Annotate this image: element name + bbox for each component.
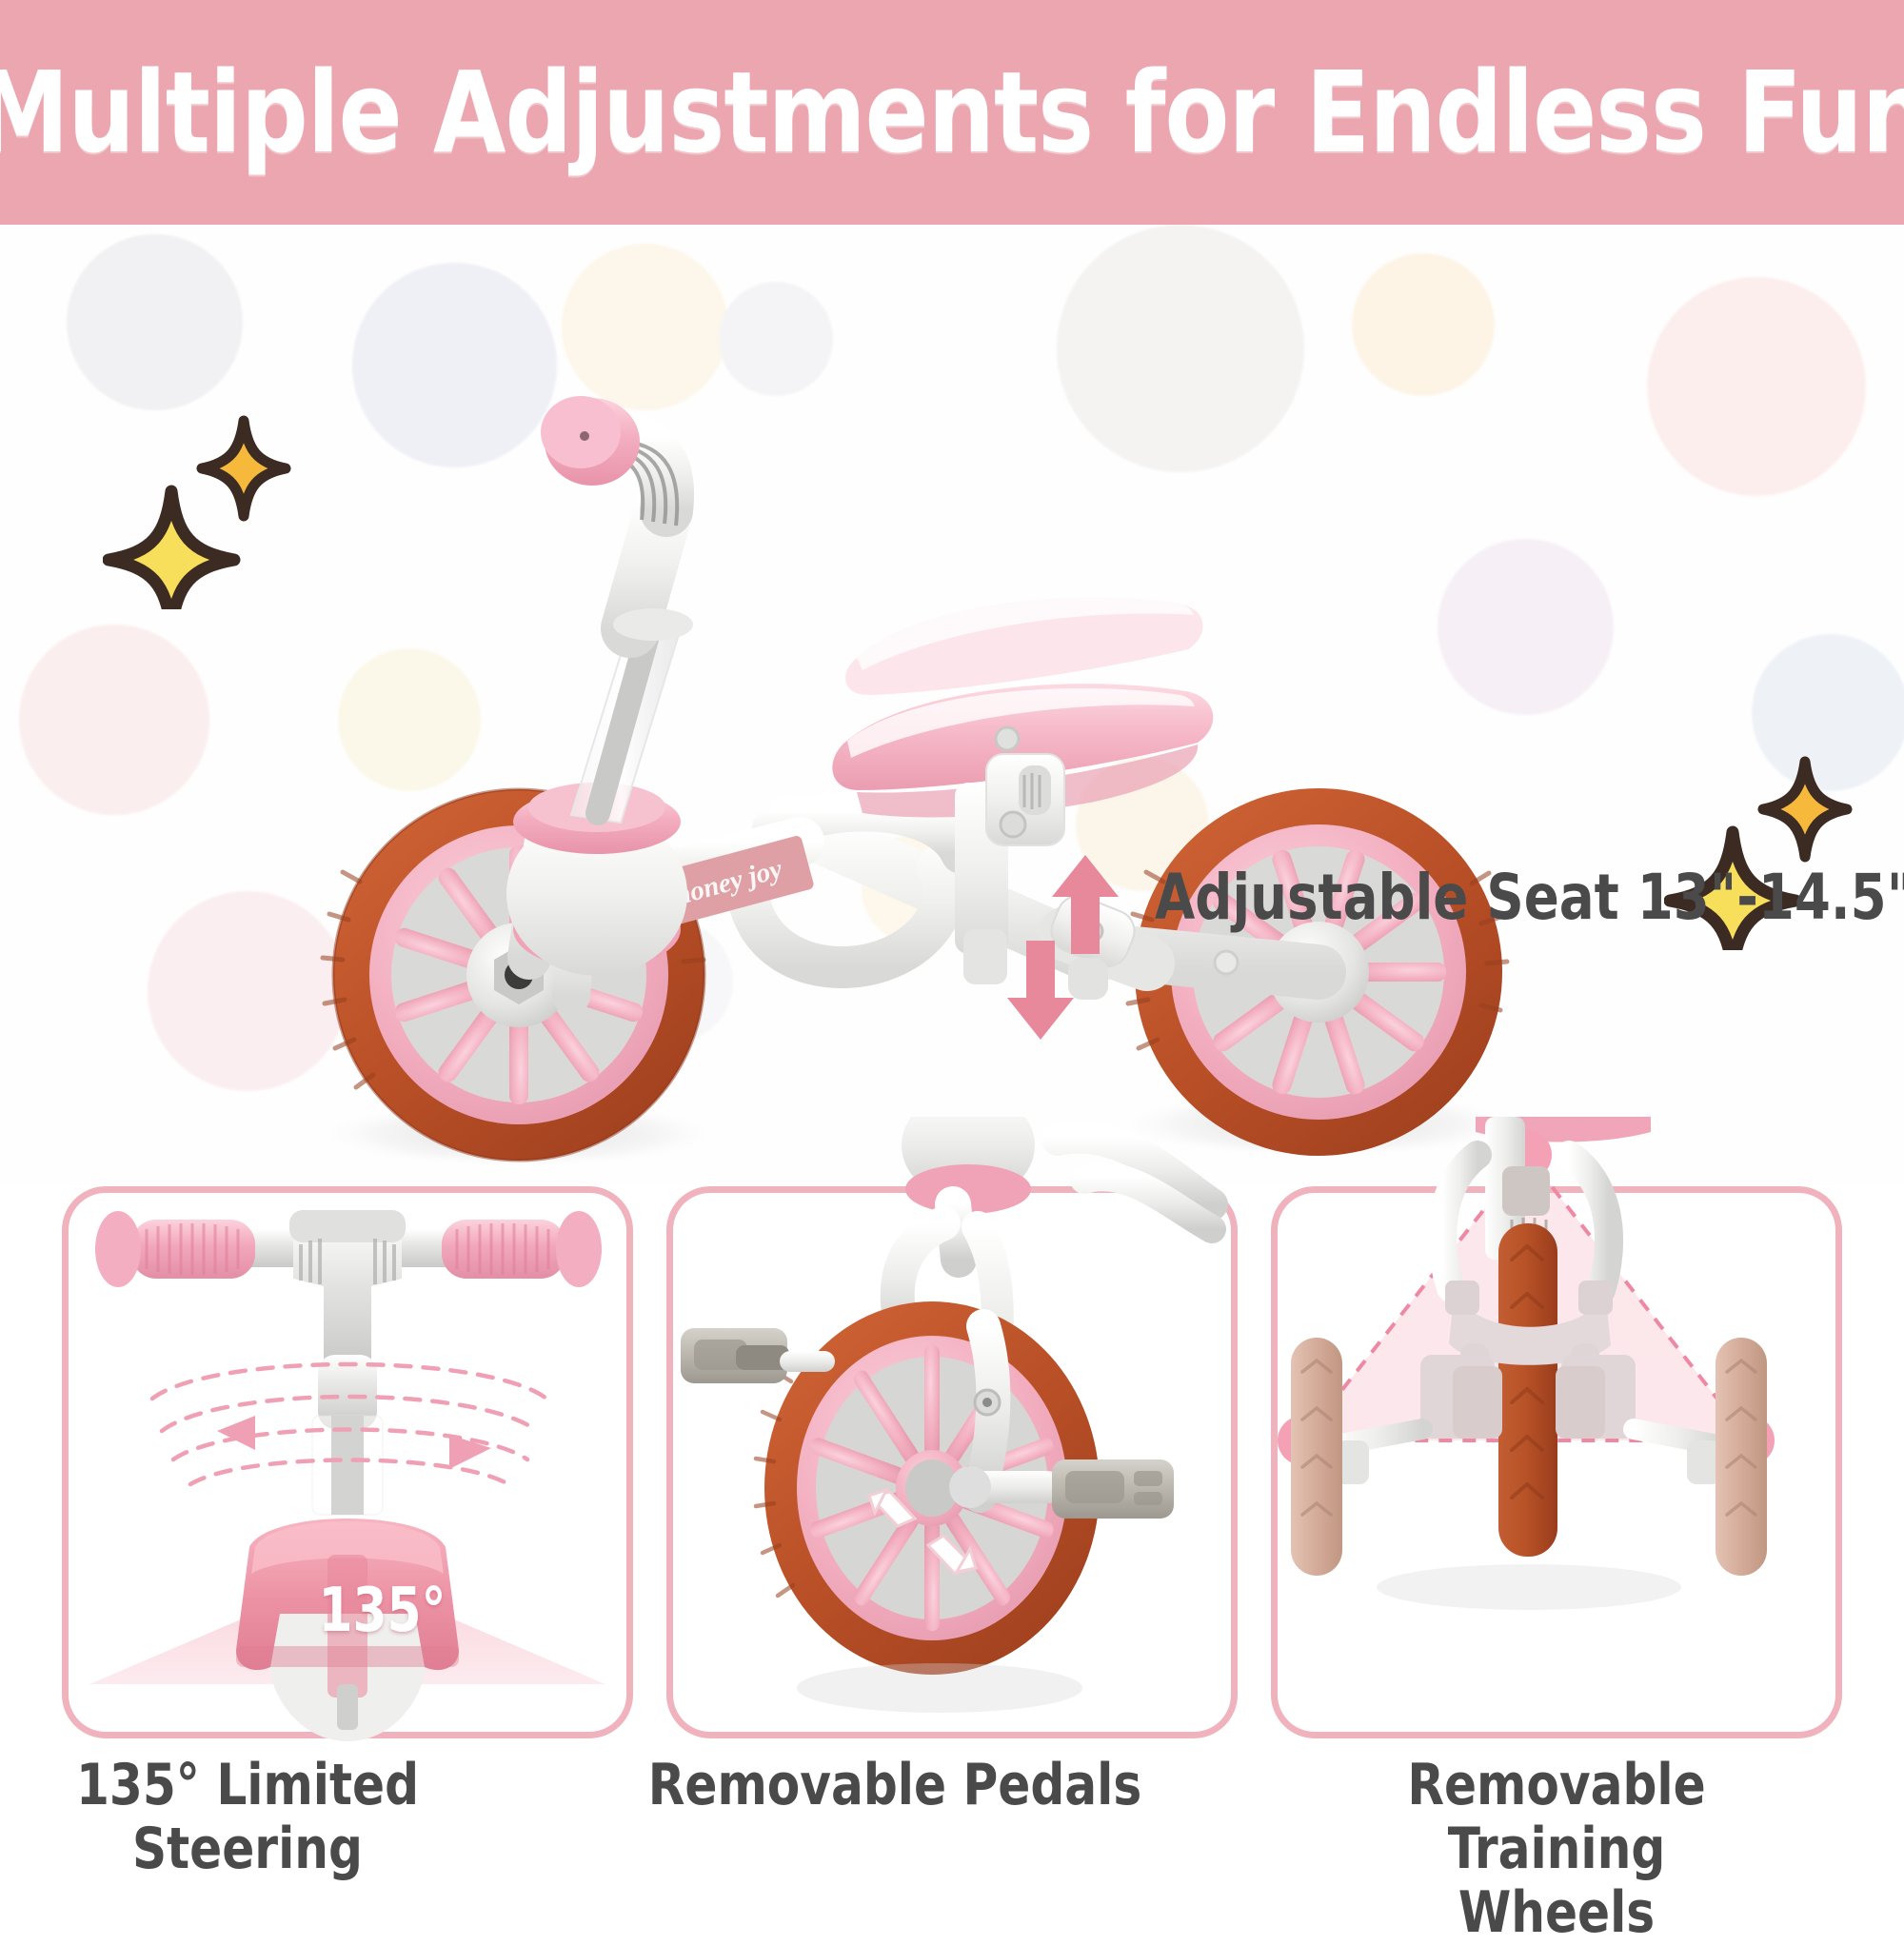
hero-caption: Adjustable Seat 13"-14.5" [1155, 861, 1904, 934]
caption-removable-training-wheels: Removable Training Wheels [1291, 1754, 1822, 1946]
training-wheel-right [1716, 1338, 1767, 1576]
panel-removable-training-wheels[interactable] [1271, 1186, 1842, 1738]
header-banner: Multiple Adjustments for Endless Fun [0, 0, 1904, 225]
head-tube-assembly [506, 396, 693, 996]
panel-training-artwork [1278, 1117, 1835, 1745]
rear-view-wheel [1498, 1223, 1557, 1557]
hero-product-stage: honey joy [0, 225, 1904, 1186]
panel-limited-steering[interactable]: 135° [62, 1186, 633, 1738]
panel-steering-artwork [69, 1117, 626, 1745]
caption-removable-pedals: Removable Pedals [629, 1754, 1160, 1817]
panel-removable-pedals[interactable] [666, 1186, 1238, 1738]
caption-line-2: Wheels [1291, 1881, 1822, 1945]
handlebar-grip-left [95, 1211, 255, 1287]
feature-panels: 135° [0, 1186, 1904, 1757]
balance-bike-illustration: honey joy [0, 225, 1904, 1186]
handlebar-grip-right [442, 1211, 602, 1287]
steering-angle-badge: 135° [318, 1576, 446, 1646]
caption-limited-steering: 135° Limited Steering [0, 1754, 513, 1881]
training-wheel-left [1291, 1338, 1342, 1576]
right-pedal [1052, 1459, 1174, 1519]
caption-line-1: Removable Training [1291, 1754, 1822, 1881]
arrow-left-icon [217, 1416, 255, 1450]
panel-pedals-artwork [673, 1117, 1231, 1745]
page-title: Multiple Adjustments for Endless Fun [0, 47, 1904, 178]
